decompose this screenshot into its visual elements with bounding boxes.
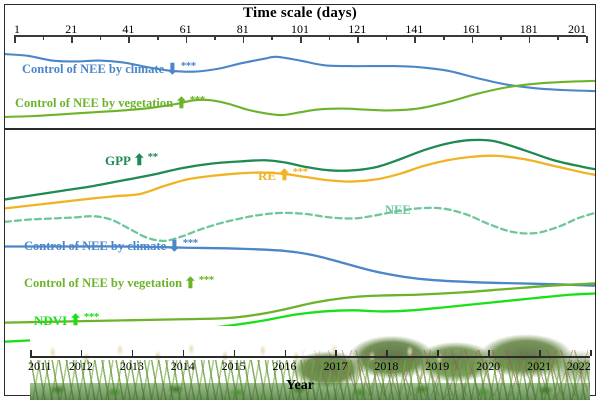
label-text: Control of NEE by vegetation	[15, 97, 173, 110]
label-nee: NEE	[385, 204, 411, 217]
years-tick	[132, 350, 134, 356]
years-tick-label: 2013	[120, 359, 144, 374]
label-top-control-climate: Control of NEE by climate ⬇ ***	[22, 62, 196, 77]
years-tick-label: 2017	[323, 359, 347, 374]
days-major-tick	[586, 36, 588, 43]
label-ndvi: NDVI ⬆ ***	[34, 313, 99, 328]
years-tick	[539, 350, 541, 356]
days-minor-tick	[271, 36, 273, 40]
arrow-up-icon: ⬆	[184, 277, 197, 292]
years-tick-label: 2012	[69, 359, 93, 374]
days-minor-tick	[500, 36, 502, 40]
significance-stars: ***	[181, 61, 196, 72]
days-minor-tick	[43, 36, 45, 40]
bottom-axis-title: Year	[0, 378, 600, 394]
arrow-down-icon: ⬇	[168, 240, 181, 255]
days-minor-tick	[443, 36, 445, 40]
years-tick-label: 2020	[476, 359, 500, 374]
figure-root: Time scale (days) 1214161811011211411611…	[0, 0, 600, 400]
years-tick	[81, 350, 83, 356]
days-major-tick	[357, 36, 359, 43]
top-axis-title: Time scale (days)	[0, 5, 600, 22]
years-tick	[335, 350, 337, 356]
years-tick	[30, 350, 32, 356]
days-major-tick	[71, 36, 73, 43]
label-text: NDVI	[34, 314, 67, 327]
days-major-tick	[128, 36, 130, 43]
years-axis: 2011201220132014201520162017201820192020…	[30, 356, 590, 378]
significance-stars: ***	[199, 275, 214, 286]
arrow-down-icon: ⬇	[166, 63, 179, 78]
label-text: Control of NEE by climate	[22, 63, 164, 76]
years-tick	[386, 350, 388, 356]
years-tick	[183, 350, 185, 356]
years-axis-line	[30, 356, 590, 358]
significance-stars: ***	[183, 238, 198, 249]
years-tick-label: 2014	[171, 359, 195, 374]
days-major-tick	[300, 36, 302, 43]
years-tick-label: 2019	[425, 359, 449, 374]
arrow-up-icon: ⬆	[69, 314, 82, 329]
days-minor-tick	[557, 36, 559, 40]
years-tick	[590, 350, 592, 356]
significance-stars: ***	[190, 95, 205, 106]
years-tick	[285, 350, 287, 356]
days-major-tick	[14, 36, 16, 43]
days-minor-tick	[386, 36, 388, 40]
significance-stars: ***	[84, 312, 99, 323]
days-tick-labels: 121416181101121141161181201	[14, 22, 586, 35]
arrow-up-icon: ⬆	[278, 169, 291, 184]
label-top-control-vegetation: Control of NEE by vegetation ⬆ ***	[15, 96, 205, 111]
days-major-tick	[243, 36, 245, 43]
significance-stars: ***	[293, 167, 308, 178]
days-major-tick	[186, 36, 188, 43]
days-major-tick	[529, 36, 531, 43]
years-tick-label: 2016	[273, 359, 297, 374]
years-tick-label: 2015	[222, 359, 246, 374]
label-gpp: GPP ⬆ **	[105, 153, 158, 168]
years-tick-label: 2021	[527, 359, 551, 374]
years-tick-label: 2022	[567, 359, 591, 374]
days-major-tick	[414, 36, 416, 43]
label-text: Control of NEE by climate	[24, 240, 166, 253]
label-text: RE	[258, 169, 276, 182]
years-tick	[234, 350, 236, 356]
years-tick	[488, 350, 490, 356]
arrow-up-icon: ⬆	[133, 154, 146, 169]
years-tick	[437, 350, 439, 356]
label-bottom-control-vegetation: Control of NEE by vegetation ⬆ ***	[24, 276, 214, 291]
label-text: Control of NEE by vegetation	[24, 277, 182, 290]
years-tick-label: 2018	[374, 359, 398, 374]
daily-panel-curves	[5, 43, 595, 128]
daily-time-scale-panel	[5, 43, 595, 128]
curve-nee	[5, 208, 595, 241]
label-text: GPP	[105, 154, 131, 167]
label-re: RE ⬆ ***	[258, 168, 308, 183]
label-text: NEE	[385, 204, 411, 217]
days-minor-tick	[214, 36, 216, 40]
arrow-up-icon: ⬆	[175, 97, 188, 112]
days-minor-tick	[329, 36, 331, 40]
days-minor-tick	[100, 36, 102, 40]
days-axis: 121416181101121141161181201	[14, 22, 586, 42]
significance-stars: **	[148, 152, 158, 163]
label-bottom-control-climate: Control of NEE by climate ⬇ ***	[24, 239, 198, 254]
years-tick-label: 2011	[28, 359, 52, 374]
days-major-tick	[472, 36, 474, 43]
days-minor-tick	[157, 36, 159, 40]
